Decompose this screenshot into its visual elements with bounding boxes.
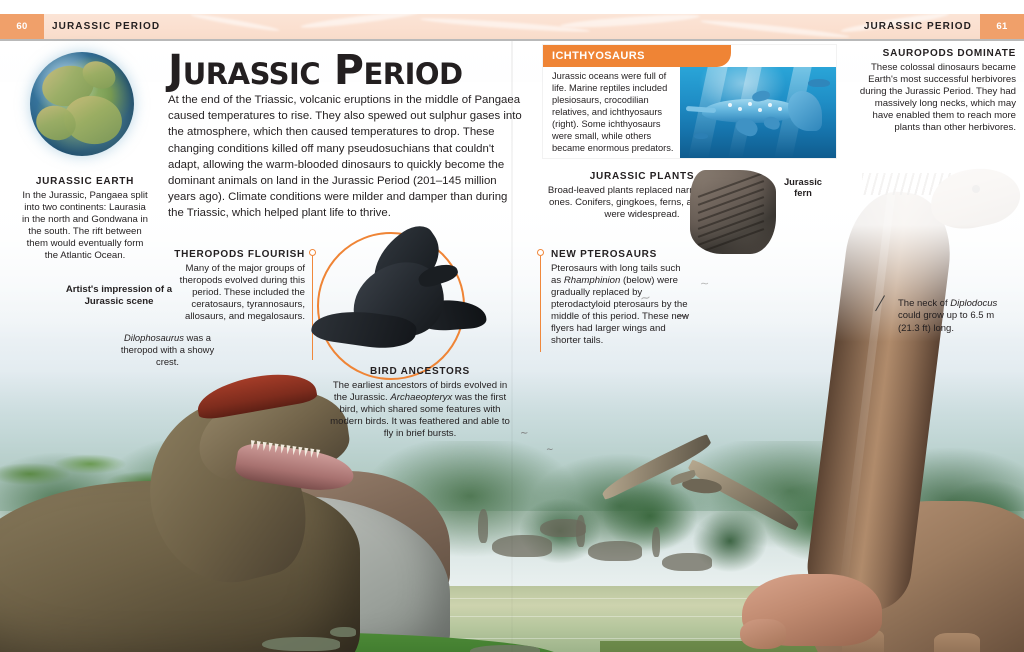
new-pterosaurs-body: Pterosaurs with long tails such as Rhamp… bbox=[551, 263, 691, 348]
diplodocus-eye bbox=[972, 185, 980, 193]
ichthyosaur-illustration bbox=[680, 67, 836, 158]
theropods-body: Many of the major groups of theropods ev… bbox=[163, 263, 305, 323]
jurassic-earth-globe bbox=[30, 52, 134, 156]
midground-sauropod bbox=[492, 535, 552, 557]
jurassic-earth-body: In the Jurassic, Pangaea split into two … bbox=[20, 190, 150, 262]
pterosaurs-leader-line bbox=[540, 256, 542, 352]
midground-sauropod-neck bbox=[478, 509, 488, 543]
jurassic-earth-callout: JURASSIC EARTH In the Jurassic, Pangaea … bbox=[20, 176, 150, 262]
diplodocus-genus: Diplodocus bbox=[950, 298, 997, 309]
neck-caption-part2: could grow up to 6.5 m (21.3 ft) long. bbox=[898, 310, 994, 333]
fern-fossil-image bbox=[690, 170, 776, 254]
page-title: Jurassic Period bbox=[168, 46, 463, 94]
ichthyosaur-snout bbox=[686, 106, 716, 113]
midground-sauropod bbox=[588, 541, 642, 561]
pterosaurs-leader-dot bbox=[537, 249, 544, 256]
artist-impression-caption: Artist's impression of a Jurassic scene bbox=[60, 284, 178, 308]
page-number-left: 60 bbox=[0, 14, 44, 39]
theropods-heading: THEROPODS FLOURISH bbox=[163, 249, 305, 260]
book-spread: ∼ ∼ ∼ ∼ ∼ bbox=[0, 0, 1024, 652]
small-dinosaur bbox=[262, 637, 340, 651]
ichthyosaurs-heading: ICHTHYOSAURS bbox=[552, 50, 645, 62]
ichthyosaurs-panel: ICHTHYOSAURS Jurassic oceans were full o… bbox=[543, 45, 836, 158]
midground-sauropod-neck bbox=[576, 515, 585, 547]
dilophosaurus-caption: Dilophosaurus was a theropod with a show… bbox=[110, 332, 225, 367]
page-number-right: 61 bbox=[980, 14, 1024, 39]
ichthyosaurs-body: Jurassic oceans were full of life. Marin… bbox=[552, 71, 676, 155]
intro-paragraph: At the end of the Triassic, volcanic eru… bbox=[168, 92, 526, 222]
rhamphinion-genus: Rhamphinion bbox=[564, 275, 621, 286]
sauropods-heading: SAUROPODS DOMINATE bbox=[853, 48, 1016, 59]
new-pterosaurs-callout: NEW PTEROSAURS Pterosaurs with long tail… bbox=[551, 249, 691, 348]
new-pterosaurs-heading: NEW PTEROSAURS bbox=[551, 249, 691, 260]
midground-sauropod-neck bbox=[652, 527, 660, 557]
archaeopteryx-genus: Archaeopteryx bbox=[390, 392, 452, 403]
neck-caption-part1: The neck of bbox=[898, 298, 950, 309]
flying-pterosaur-icon: ∼ bbox=[520, 429, 528, 439]
bird-ancestors-heading: BIRD ANCESTORS bbox=[330, 366, 510, 377]
theropods-callout: THEROPODS FLOURISH Many of the major gro… bbox=[163, 249, 305, 323]
armoured-dinosaur-head bbox=[740, 619, 786, 649]
theropods-leader-line bbox=[312, 256, 314, 360]
bird-ancestors-callout: BIRD ANCESTORS The earliest ancestors of… bbox=[330, 366, 510, 440]
running-head-left: JURASSIC PERIOD bbox=[52, 14, 160, 39]
dilophosaurus-genus: Dilophosaurus bbox=[124, 332, 184, 343]
diplodocus-leg bbox=[934, 633, 980, 652]
running-head-right: JURASSIC PERIOD bbox=[864, 14, 972, 39]
diplodocus-neck-caption: The neck of Diplodocus could grow up to … bbox=[898, 298, 1010, 335]
flying-pterosaur-icon: ∼ bbox=[700, 279, 709, 290]
distant-marine-reptile bbox=[808, 79, 830, 87]
small-dinosaur-head bbox=[330, 627, 356, 637]
small-dinosaur bbox=[470, 645, 540, 652]
distant-marine-reptile bbox=[694, 133, 708, 139]
sauropods-callout: SAUROPODS DOMINATE These colossal dinosa… bbox=[853, 48, 1016, 134]
sauropods-body: These colossal dinosaurs became Earth's … bbox=[853, 62, 1016, 134]
pterosaur-wing-right bbox=[686, 459, 803, 531]
midground-sauropod bbox=[662, 553, 712, 571]
flying-pterosaur-icon: ∼ bbox=[546, 445, 554, 454]
theropods-leader-dot bbox=[309, 249, 316, 256]
jurassic-earth-heading: JURASSIC EARTH bbox=[20, 176, 150, 187]
ichthyosaurs-header-bar: ICHTHYOSAURS bbox=[543, 45, 731, 67]
fern-fossil-label: Jurassic fern bbox=[774, 176, 832, 199]
bird-ancestors-body: The earliest ancestors of birds evolved … bbox=[330, 380, 510, 440]
